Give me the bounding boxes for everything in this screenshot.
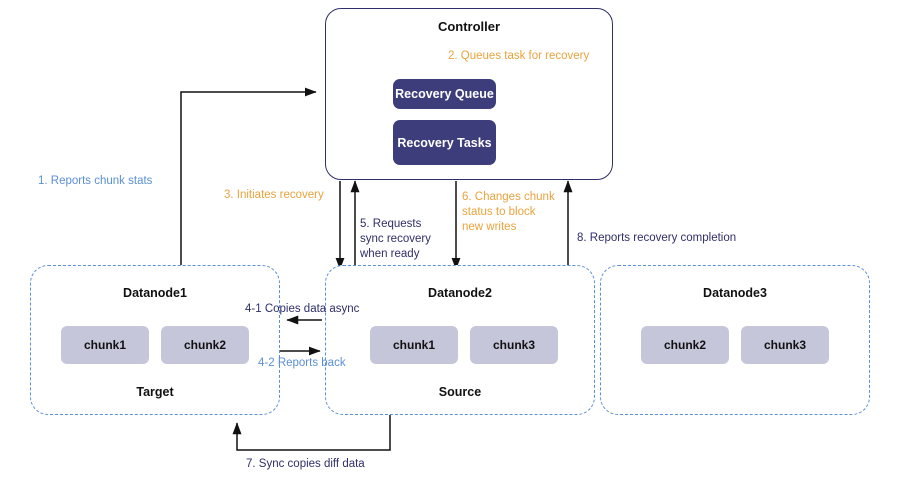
flow-label-2: 2. Queues task for recovery <box>448 49 589 64</box>
controller-title: Controller <box>325 19 613 34</box>
datanode-2-chunk-0[interactable]: chunk1 <box>370 326 458 364</box>
connector-flow-1 <box>181 92 316 266</box>
flow-label-6: 6. Changes chunk status to block new wri… <box>462 190 555 235</box>
flow-label-4-1: 4-1 Copies data async <box>245 302 359 317</box>
datanode-3-chunk-0[interactable]: chunk2 <box>641 326 729 364</box>
flow-label-8: 8. Reports recovery completion <box>577 231 736 246</box>
datanode-2-title: Datanode2 <box>325 286 595 300</box>
flow-label-7: 7. Sync copies diff data <box>246 457 365 472</box>
diagram-canvas: Controller Recovery Queue Recovery Tasks… <box>0 0 910 482</box>
flow-label-1: 1. Reports chunk stats <box>38 174 152 189</box>
flow-label-5: 5. Requests sync recovery when ready <box>360 217 431 262</box>
datanode-2-role-label: Source <box>325 385 595 399</box>
recovery-queue-node[interactable]: Recovery Queue <box>393 79 496 109</box>
flow-label-4-2: 4-2 Reports back <box>258 356 346 371</box>
datanode-2-chunk-1[interactable]: chunk3 <box>470 326 558 364</box>
flow-label-3: 3. Initiates recovery <box>224 188 324 203</box>
datanode-1-chunk-1[interactable]: chunk2 <box>161 326 249 364</box>
datanode-1-title: Datanode1 <box>30 286 280 300</box>
datanode-3-title: Datanode3 <box>600 286 870 300</box>
datanode-1-role-label: Target <box>30 385 280 399</box>
recovery-tasks-node[interactable]: Recovery Tasks <box>393 120 496 165</box>
datanode-1-chunk-0[interactable]: chunk1 <box>61 326 149 364</box>
datanode-3-chunk-1[interactable]: chunk3 <box>741 326 829 364</box>
connector-flow-7 <box>237 415 390 450</box>
